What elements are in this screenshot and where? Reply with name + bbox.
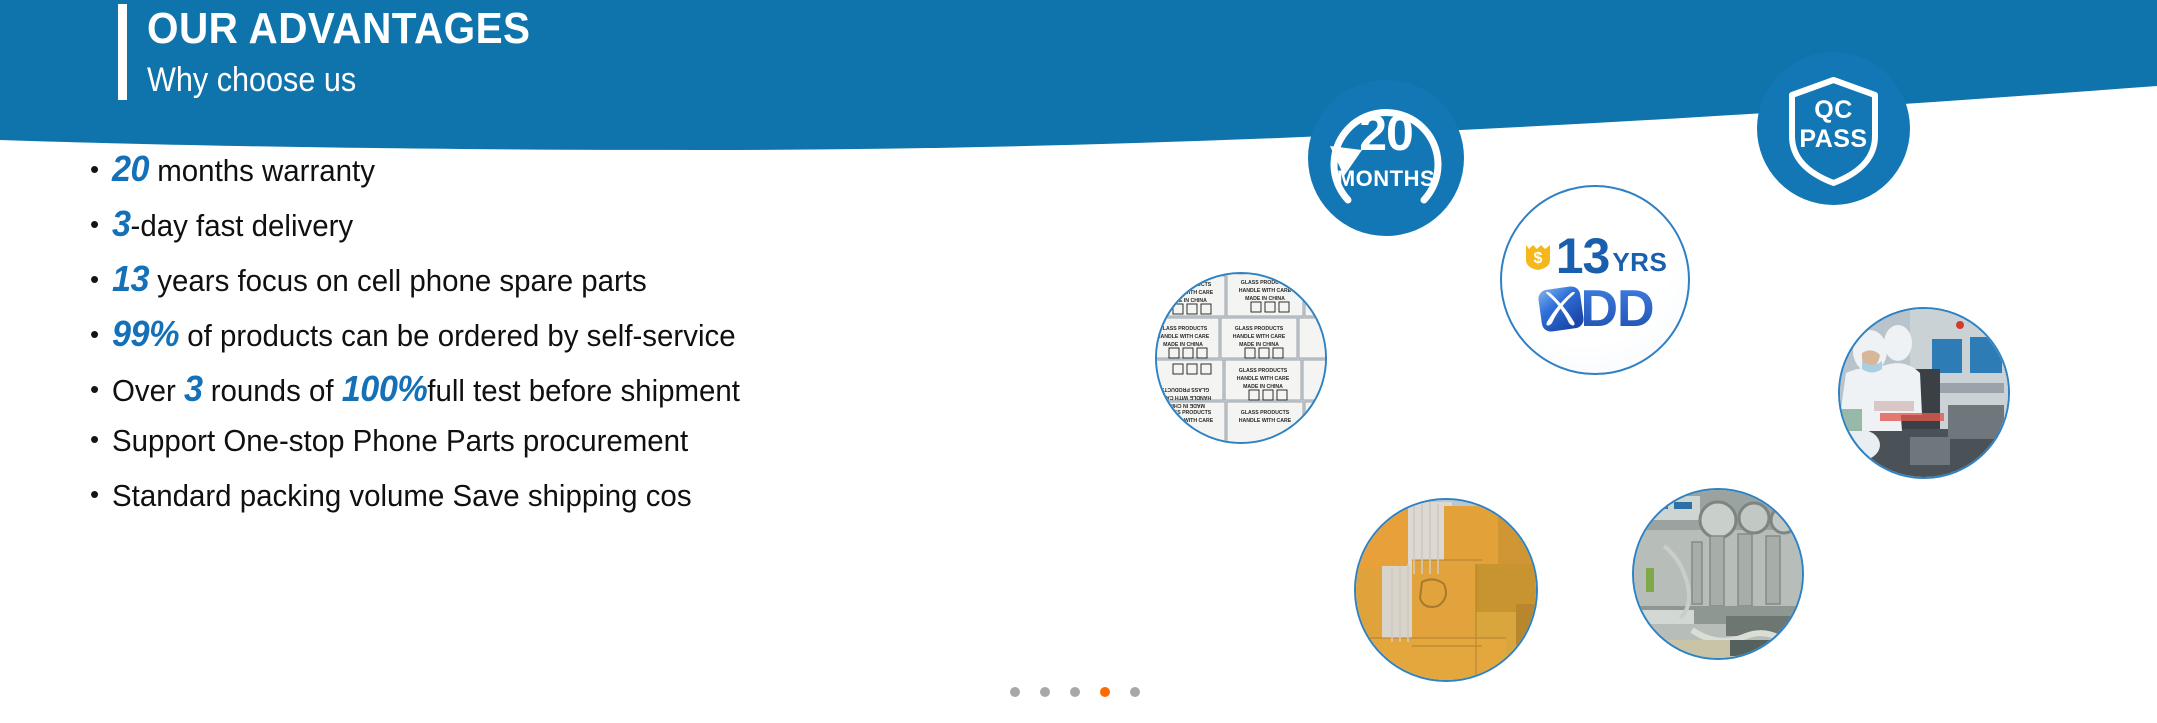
brand-row: DD (1536, 283, 1653, 335)
svg-text:HANDLE WITH CARE: HANDLE WITH CARE (1158, 394, 1211, 400)
list-item: • 3-day fast delivery (90, 203, 1020, 258)
svg-text:MADE IN CHINA: MADE IN CHINA (1167, 298, 1207, 304)
carousel-dot-4[interactable] (1100, 687, 1110, 697)
brand-logo-badge: $ 13 YRS (1500, 185, 1690, 375)
list-item: • Standard packing volume Save shipping … (90, 478, 1020, 533)
advantage-label-secondary: full test before shipment (427, 373, 740, 408)
bullet-icon: • (90, 266, 112, 292)
page-subtitle: Why choose us (147, 58, 522, 102)
months-label: MONTHS (1308, 166, 1464, 192)
cleanroom-image (1840, 309, 2008, 477)
advantage-number: 3 (184, 368, 203, 409)
advantage-label: rounds of (203, 373, 342, 408)
advantage-text: Support One-stop Phone Parts procurement (112, 423, 688, 459)
svg-text:GLASS PRODUCTS: GLASS PRODUCTS (1235, 326, 1284, 332)
advantage-number-secondary: 100% (342, 368, 428, 409)
advantage-label: Support One-stop Phone Parts procurement (112, 423, 688, 458)
advantage-number: 13 (112, 258, 149, 299)
bullet-icon: • (90, 211, 112, 237)
qc-line-2: PASS (1757, 125, 1910, 154)
advantage-text: Over 3 rounds of 100%full test before sh… (112, 368, 740, 410)
advantage-number: 99% (112, 313, 179, 354)
carousel-dot-3[interactable] (1070, 687, 1080, 697)
x-logo-icon (1536, 284, 1586, 334)
svg-text:HANDLE WITH CARE: HANDLE WITH CARE (1239, 288, 1292, 294)
advantage-number: 3 (112, 203, 131, 244)
svg-text:HANDLE WITH CARE: HANDLE WITH CARE (1157, 334, 1210, 340)
svg-text:GLASS PRODUCTS: GLASS PRODUCTS (1241, 280, 1290, 286)
svg-text:GLASS PRODUCTS: GLASS PRODUCTS (1163, 410, 1212, 416)
carousel-dot-2[interactable] (1040, 687, 1050, 697)
list-item: • 13 years focus on cell phone spare par… (90, 258, 1020, 313)
qc-pass-badge: QC PASS (1757, 52, 1910, 205)
advantage-text: 99% of products can be ordered by self-s… (112, 313, 736, 355)
brand-name: DD (1580, 283, 1653, 335)
svg-text:HANDLE WITH CARE: HANDLE WITH CARE (1237, 376, 1290, 382)
image-collage: 20 MONTHS QC PASS $ (1120, 0, 2157, 723)
photo-glass-product-boxes: GLASS PRODUCTSHANDLE WITH CAREMADE IN CH… (1155, 272, 1327, 444)
list-item: • 20 months warranty (90, 148, 1020, 203)
photo-cleanroom-workers (1838, 307, 2010, 479)
svg-text:HANDLE WITH CARE: HANDLE WITH CARE (1233, 334, 1286, 340)
bullet-icon: • (90, 426, 112, 452)
advantage-label: months warranty (149, 153, 375, 188)
advantage-text: 3-day fast delivery (112, 203, 353, 245)
glass-boxes-image: GLASS PRODUCTSHANDLE WITH CAREMADE IN CH… (1157, 274, 1325, 442)
svg-text:MADE IN CHINA: MADE IN CHINA (1165, 402, 1205, 408)
header: OUR ADVANTAGES Why choose us (118, 4, 564, 102)
svg-text:HANDLE WITH CARE: HANDLE WITH CARE (1161, 290, 1214, 296)
list-item: • Over 3 rounds of 100%full test before … (90, 368, 1020, 423)
qc-line-1: QC (1757, 96, 1910, 125)
header-accent-rule (118, 4, 127, 100)
bullet-icon: • (90, 156, 112, 182)
cartons-image (1356, 500, 1536, 680)
advantage-label: years focus on cell phone spare parts (149, 263, 647, 298)
svg-text:MADE IN CHINA: MADE IN CHINA (1243, 384, 1283, 390)
svg-text:HANDLE WITH CARE: HANDLE WITH CARE (1239, 418, 1292, 424)
photo-production-machine (1632, 488, 1804, 660)
warranty-months-badge: 20 MONTHS (1308, 80, 1464, 236)
bullet-icon: • (90, 376, 112, 402)
photo-wrapped-cartons (1354, 498, 1538, 682)
svg-text:GLASS PRODUCTS: GLASS PRODUCTS (1239, 368, 1288, 374)
advantage-label: of products can be ordered by self-servi… (179, 318, 736, 353)
svg-text:GLASS PRODUCTS: GLASS PRODUCTS (1241, 410, 1290, 416)
advantage-text: 13 years focus on cell phone spare parts (112, 258, 647, 300)
advantage-label: Standard packing volume Save shipping co… (112, 478, 692, 513)
svg-text:HANDLE WITH CARE: HANDLE WITH CARE (1161, 418, 1214, 424)
list-item: • Support One-stop Phone Parts procureme… (90, 423, 1020, 478)
carousel-dots[interactable] (1010, 687, 1140, 697)
carousel-dot-1[interactable] (1010, 687, 1020, 697)
svg-text:GLASS PRODUCTS: GLASS PRODUCTS (1159, 326, 1208, 332)
machine-image (1634, 490, 1802, 658)
list-item: • 99% of products can be ordered by self… (90, 313, 1020, 368)
svg-text:MADE IN CHINA: MADE IN CHINA (1239, 342, 1279, 348)
advantages-banner: OUR ADVANTAGES Why choose us • 20 months… (0, 0, 2157, 723)
svg-text:$: $ (1533, 250, 1542, 267)
advantages-list: • 20 months warranty • 3-day fast delive… (90, 148, 1020, 533)
svg-text:GLASS PRODUCTS: GLASS PRODUCTS (1163, 282, 1212, 288)
bullet-icon: • (90, 321, 112, 347)
years-row: $ 13 YRS (1523, 231, 1668, 281)
svg-text:MADE IN CHINA: MADE IN CHINA (1245, 296, 1285, 302)
advantage-text: Standard packing volume Save shipping co… (112, 478, 692, 514)
bullet-icon: • (90, 481, 112, 507)
qc-pass-text: QC PASS (1757, 96, 1910, 154)
carousel-dot-5[interactable] (1130, 687, 1140, 697)
coin-shield-icon: $ (1523, 241, 1553, 271)
advantage-text: 20 months warranty (112, 148, 375, 190)
years-unit: YRS (1612, 247, 1667, 278)
years-number: 13 (1556, 231, 1610, 281)
advantage-label: -day fast delivery (131, 208, 354, 243)
advantage-prefix: Over (112, 373, 184, 408)
svg-text:GLASS PRODUCTS: GLASS PRODUCTS (1160, 386, 1209, 392)
page-title: OUR ADVANTAGES (147, 4, 531, 54)
advantage-number: 20 (112, 148, 149, 189)
months-number: 20 (1308, 106, 1464, 160)
svg-text:MADE IN CHINA: MADE IN CHINA (1163, 342, 1203, 348)
